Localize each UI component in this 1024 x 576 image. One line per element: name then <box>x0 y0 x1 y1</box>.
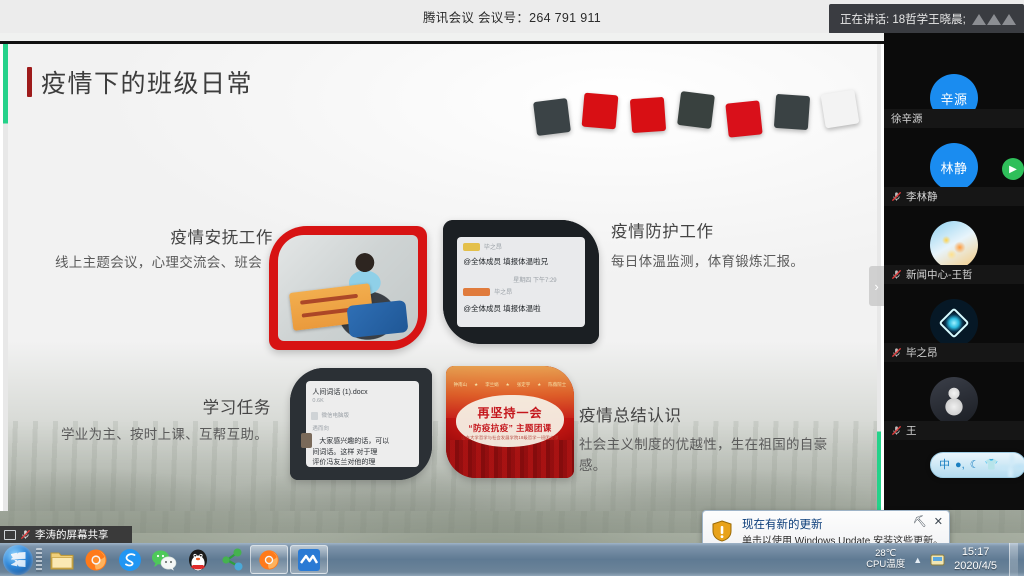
windows-logo-glyph <box>11 552 26 567</box>
ime-mode-button[interactable]: 中 <box>939 460 950 471</box>
monitor-icon <box>4 530 16 540</box>
poster-star-item: 张定宇 <box>517 382 531 388</box>
poster-line-3: 山东大学哲学与社会发展学院18级哲学一班团支部 <box>446 435 574 441</box>
poster-line-1: 再坚持一会 <box>446 404 574 421</box>
poster-star-item: ★ <box>506 382 510 388</box>
shared-screen-canvas: 疫情下的班级日常 疫情安抚工作 线上主题会议，心理交流会、班会 疫情防护工作 每… <box>0 44 884 511</box>
network-share-icon[interactable] <box>217 545 247 575</box>
firefox-window-icon[interactable] <box>250 545 288 574</box>
chevron-right-icon: › <box>874 279 878 294</box>
microphone-muted-icon <box>891 269 902 280</box>
speaking-label: 正在讲话: 18哲学王晓晨; <box>840 11 966 27</box>
poster-star-item: 陈薇院士 <box>548 382 566 388</box>
participant-name-bar: 王 <box>884 421 1024 440</box>
cpu-temp-label: CPU温度 <box>866 560 905 571</box>
avatar <box>930 377 978 425</box>
wechat-source: 微信电脑版 <box>322 411 350 419</box>
square-dark-1 <box>533 98 571 136</box>
avatar <box>930 221 978 269</box>
participant-name-bar: 新闻中心-王哲 <box>884 265 1024 284</box>
square-red-3 <box>725 100 762 137</box>
shared-screen-collapse-button[interactable]: › <box>869 266 884 306</box>
system-tray: 28℃ CPU温度 ▲ 15:17 2020/4/5 <box>866 543 1024 576</box>
cpu-temp-widget[interactable]: 28℃ CPU温度 <box>866 549 905 571</box>
block-summary: 疫情总结认识 社会主义制度的优越性，生在祖国的自豪感。 <box>579 406 829 477</box>
square-white <box>821 90 860 129</box>
sound-wave-icon <box>972 14 1016 25</box>
block-protection-body: 每日体温监测，体育锻炼汇报。 <box>611 252 841 273</box>
wechat-line-2: 间词话。这样 对于理 <box>312 447 377 457</box>
video-on-icon: ▶ <box>1009 164 1017 175</box>
participant-name-bar: 徐辛源 <box>884 109 1024 128</box>
participant-name: 王 <box>906 423 917 438</box>
photo-blood-donation-frame <box>278 235 418 341</box>
poster-star-names: 钟南山★李兰娟★张定宇★陈薇院士 <box>454 382 567 388</box>
qq-admin-tag <box>463 288 490 296</box>
wechat-source-icon <box>311 412 318 420</box>
microphone-muted-icon <box>891 191 902 202</box>
clock-date: 2020/4/5 <box>954 560 997 574</box>
flower-decoration-icon <box>995 452 1024 478</box>
block-protection-heading: 疫情防护工作 <box>611 222 841 243</box>
square-red-1 <box>582 93 619 130</box>
chevron-up-icon[interactable]: ▲ <box>913 555 922 565</box>
photo-blood-donation <box>269 226 427 350</box>
participant-tile[interactable]: 新闻中心-王哲 <box>884 206 1024 284</box>
block-comfort: 疫情安抚工作 线上主题会议，心理交流会、班会 <box>55 228 273 274</box>
poster-star-item: ★ <box>474 382 478 388</box>
poster-line-2: “防疫抗疫” 主题团课 <box>446 422 574 434</box>
taskbar-clock[interactable]: 15:17 2020/4/5 <box>954 546 997 574</box>
wechat-line-3: 评价冯友兰对他的理 <box>312 457 375 467</box>
wechat-sender: 遇而向 <box>312 424 329 432</box>
wechat-avatar <box>301 433 312 448</box>
square-dark-3 <box>774 94 810 130</box>
ime-toolbar[interactable]: 中 ●, ☾ 👕 <box>930 452 1024 478</box>
participant-name: 李林静 <box>906 189 938 204</box>
participant-name: 徐辛源 <box>891 111 923 126</box>
shared-screen-area: 疫情下的班级日常 疫情安抚工作 线上主题会议，心理交流会、班会 疫情防护工作 每… <box>0 41 884 511</box>
file-explorer-icon[interactable] <box>47 545 77 575</box>
sogou-browser-icon[interactable] <box>115 545 145 575</box>
poster-star-item: 李兰娟 <box>485 382 499 388</box>
participant-name-bar: 李林静 <box>884 187 1024 206</box>
participant-list: 辛源徐辛源林静李林静新闻中心-王哲毕之昂王 <box>884 33 1024 440</box>
meeting-title: 腾讯会议 会议号：264 791 911 <box>423 7 601 26</box>
microphone-muted-icon <box>891 347 902 358</box>
poster-star-item: 钟南山 <box>454 382 468 388</box>
wechat-filename: 人间词话 (1).docx <box>312 387 367 397</box>
qq-timestamp: 星期四 下午7:29 <box>513 275 556 284</box>
microphone-muted-icon <box>891 425 902 436</box>
slide-title-group: 疫情下的班级日常 <box>27 64 253 100</box>
clock-time: 15:17 <box>954 546 997 560</box>
show-desktop-button[interactable] <box>1009 543 1018 576</box>
wrench-icon[interactable]: ⛏ <box>913 515 927 528</box>
square-dark-2 <box>677 91 715 129</box>
moon-icon[interactable]: ☾ <box>970 460 980 471</box>
cpu-temp-value: 28℃ <box>866 549 905 560</box>
photo-donation-chair <box>347 300 409 338</box>
screen-root: 腾讯会议 会议号：264 791 911 正在讲话: 18哲学王晓晨; 疫情下的… <box>0 0 1024 576</box>
qq-chat-paper: 毕之昂 @全体成员 填报体温啦兄 星期四 下午7:29 毕之昂 @全体成员 填报… <box>457 237 585 326</box>
firefox-icon[interactable] <box>81 545 111 575</box>
screen-sharing-status-bar: 李涛的屏幕共享 <box>0 526 132 543</box>
participant-rail: ^ 辛源徐辛源林静李林静新闻中心-王哲毕之昂王 ▶ <box>884 33 1024 510</box>
qq-sender-name: 毕之昂 <box>484 242 502 251</box>
wechat-line-1: 大家感兴趣的话，可以 <box>319 436 389 446</box>
poster-anti-epidemic-class: 钟南山★李兰娟★张定宇★陈薇院士 再坚持一会 “防疫抗疫” 主题团课 山东大学哲… <box>446 366 574 478</box>
windows-taskbar: 28℃ CPU温度 ▲ 15:17 2020/4/5 <box>0 543 1024 576</box>
participant-name: 新闻中心-王哲 <box>906 267 973 282</box>
qq-sender-name-2: 毕之昂 <box>494 287 512 296</box>
square-red-2 <box>630 97 666 133</box>
self-video-status-badge[interactable]: ▶ <box>1002 158 1024 180</box>
block-comfort-body: 线上主题会议，心理交流会、班会 <box>55 253 273 274</box>
wechat-icon[interactable] <box>149 545 179 575</box>
qq-sender-tag <box>463 243 480 251</box>
screenshot-qq-group-chat: 毕之昂 @全体成员 填报体温啦兄 星期四 下午7:29 毕之昂 @全体成员 填报… <box>443 220 599 344</box>
participant-tile[interactable]: 辛源徐辛源 <box>884 33 1024 128</box>
wechat-paper: 人间词话 (1).docx 0.6K 微信电脑版 遇而向 大家感兴趣的话，可以 … <box>306 381 420 466</box>
slide-accent-left <box>3 44 8 511</box>
wechat-filesize: 0.6K <box>312 398 323 404</box>
notification-tools: ⛏ ✕ <box>913 515 943 528</box>
block-summary-body: 社会主义制度的优越性，生在祖国的自豪感。 <box>579 435 829 477</box>
participant-name-bar: 毕之昂 <box>884 343 1024 362</box>
quicklaunch-separator[interactable] <box>36 548 42 572</box>
qq-message-2: @全体成员 填报体温啦 <box>463 303 540 314</box>
block-study-body: 学业为主、按时上课、互帮互助。 <box>61 425 271 446</box>
notification-title: 现在有新的更新 <box>742 516 823 532</box>
screenshot-wechat-document: 人间词话 (1).docx 0.6K 微信电脑版 遇而向 大家感兴趣的话，可以 … <box>290 368 432 480</box>
participant-name: 毕之昂 <box>906 345 938 360</box>
presentation-slide: 疫情下的班级日常 疫情安抚工作 线上主题会议，心理交流会、班会 疫情防护工作 每… <box>3 44 881 511</box>
block-study-heading: 学习任务 <box>61 398 271 419</box>
windows-shield-icon <box>712 520 732 542</box>
block-study: 学习任务 学业为主、按时上课、互帮互助。 <box>61 398 271 446</box>
participant-tile[interactable]: 王 <box>884 362 1024 440</box>
qq-icon[interactable] <box>183 545 213 575</box>
decorative-squares <box>535 92 865 142</box>
avatar <box>930 299 978 347</box>
windows-start-orb-icon[interactable] <box>3 545 33 575</box>
close-icon[interactable]: ✕ <box>934 515 943 528</box>
meeting-top-bar: 腾讯会议 会议号：264 791 911 正在讲话: 18哲学王晓晨; <box>0 0 1024 33</box>
qq-message-1: @全体成员 填报体温啦兄 <box>463 256 548 267</box>
title-accent-bar <box>27 67 32 97</box>
slide-title: 疫情下的班级日常 <box>41 64 253 100</box>
tencent-meeting-window-icon[interactable] <box>290 545 328 574</box>
screen-sharing-label: 李涛的屏幕共享 <box>35 527 109 542</box>
block-comfort-heading: 疫情安抚工作 <box>55 228 273 249</box>
block-summary-heading: 疫情总结认识 <box>579 406 829 427</box>
block-protection: 疫情防护工作 每日体温监测，体育锻炼汇报。 <box>611 222 841 273</box>
punctuation-icon[interactable]: ●, <box>955 460 965 471</box>
tray-notification-icon[interactable] <box>930 552 946 567</box>
avatar: 林静 <box>930 143 978 191</box>
speaking-indicator: 正在讲话: 18哲学王晓晨; <box>829 4 1024 34</box>
participant-tile[interactable]: 毕之昂 <box>884 284 1024 362</box>
poster-star-item: ★ <box>537 382 541 388</box>
microphone-muted-icon <box>20 529 31 540</box>
